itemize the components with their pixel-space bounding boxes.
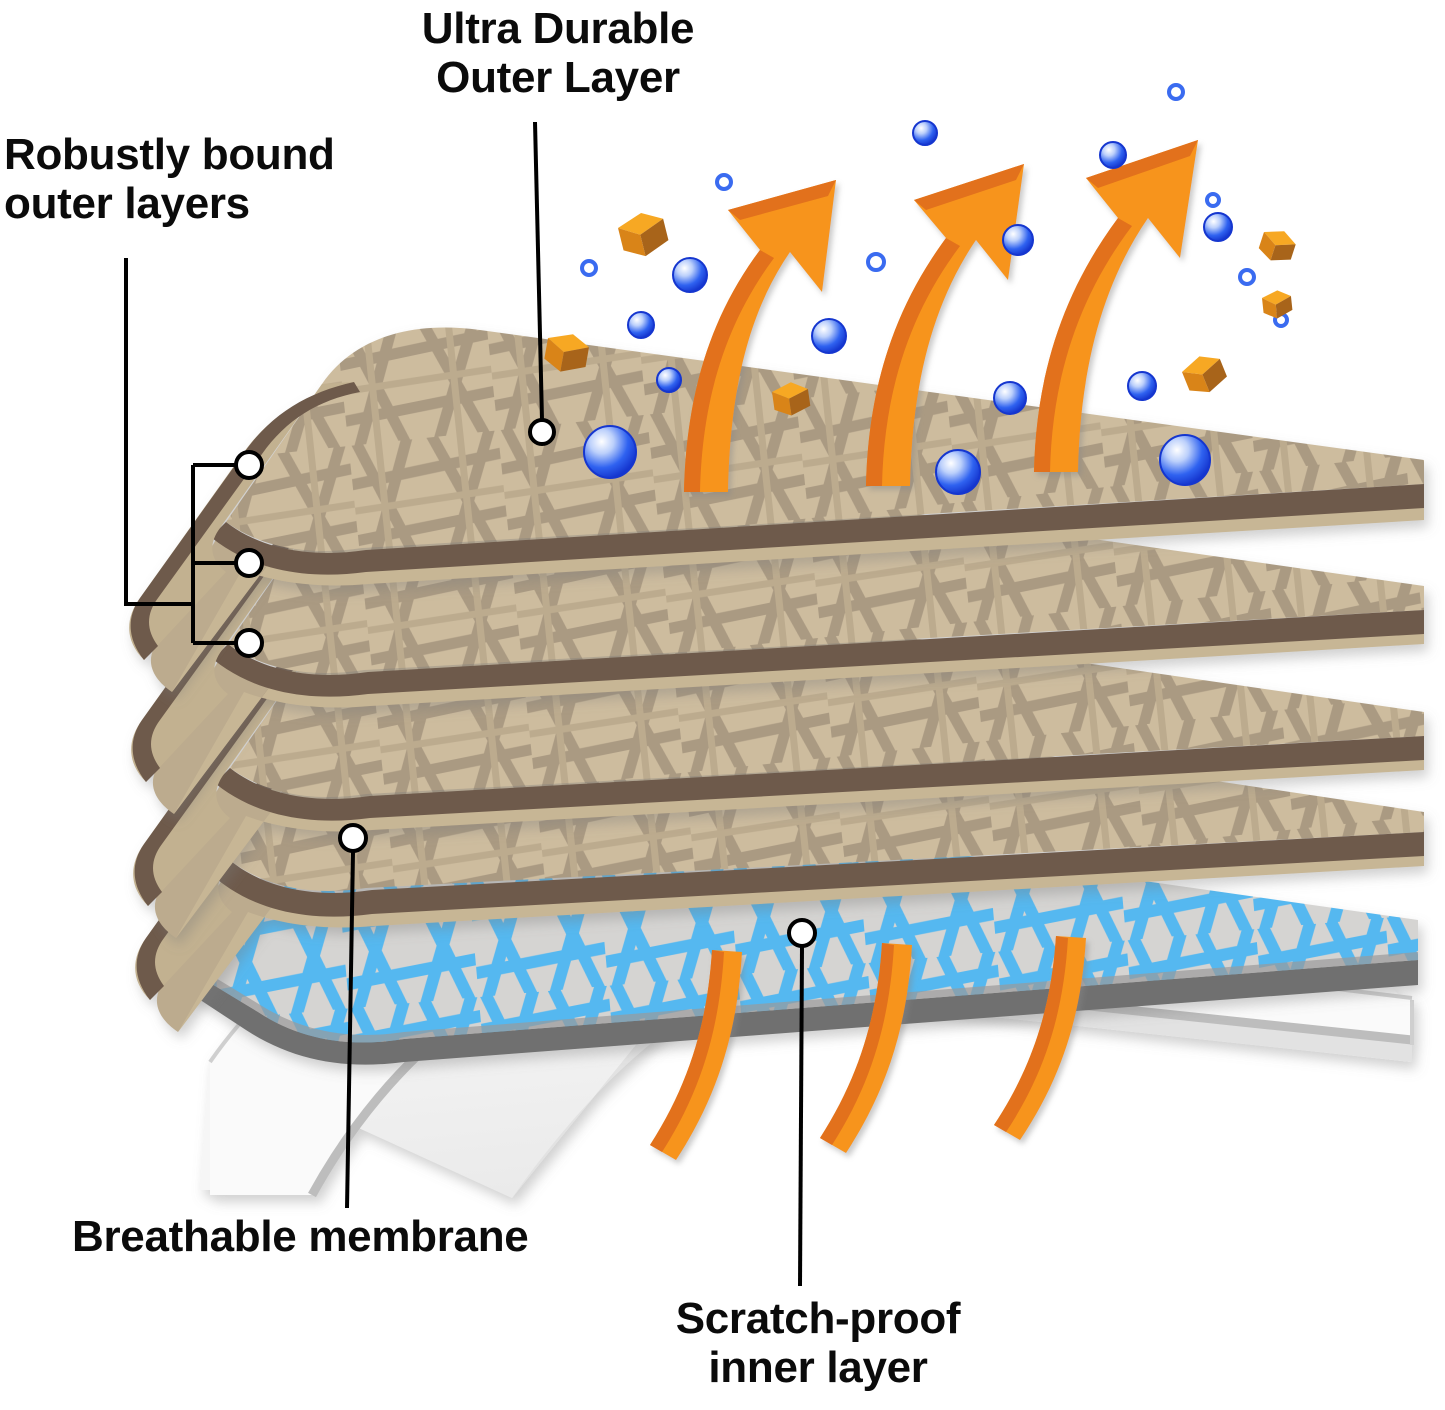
callout-dot-outer-3 [236, 550, 262, 576]
callout-dot-outer-4 [236, 630, 262, 656]
diagram-canvas: Ultra Durable Outer Layer Robustly bound… [0, 0, 1445, 1410]
callout-dot-membrane [340, 825, 366, 851]
leader-scratch-proof [800, 946, 802, 1286]
callout-dot-outer-2 [236, 452, 262, 478]
callout-dot-ultra-durable [530, 420, 554, 444]
callout-dot-inner [789, 920, 815, 946]
label-scratch-proof-inner-layer: Scratch-proof inner layer [618, 1294, 1018, 1393]
label-ultra-durable-outer-layer: Ultra Durable Outer Layer [378, 4, 738, 103]
label-breathable-membrane: Breathable membrane [72, 1212, 672, 1261]
label-robustly-bound-outer-layers: Robustly bound outer layers [4, 130, 424, 229]
